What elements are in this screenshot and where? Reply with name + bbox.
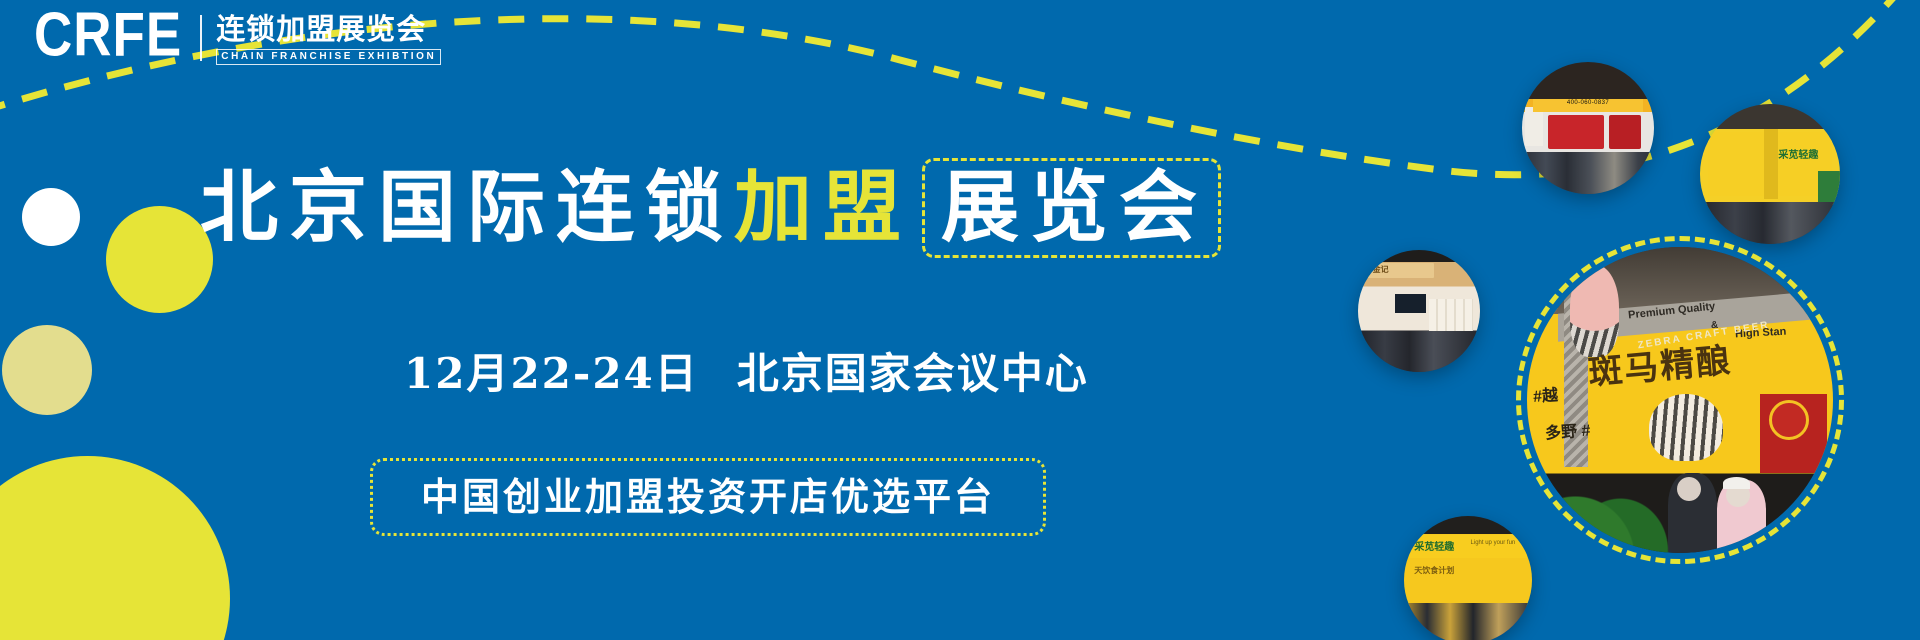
photo-wood-booth: 金记 [1358,250,1480,372]
logo-name-en: CHAIN FRANCHISE EXHIBTION [216,49,441,65]
photo-yellow-booth-top: 采苋轻趣 [1700,104,1840,244]
booth-brand-name: 采苋轻趣 [1414,538,1454,553]
photo-yellow-booth-bottom-image: 采苋轻趣 Light up your fun 天饮食计划 [1404,516,1532,640]
tagline-text: 中国创业加盟投资开店优选平台 [421,476,995,518]
booth-brand-name: 金记 [1373,264,1389,275]
booth-brand-tagline-en: Light up your fun [1471,540,1516,546]
booth-brand-name: 采苋轻趣 [1778,146,1818,161]
booth-red-poster-secondary [1609,115,1641,149]
booth-left-panel [1525,107,1543,147]
title-segment-white: 北京国际连锁 [200,167,734,249]
title-segment-boxed: 展览会 [922,158,1221,258]
decor-large-yellow-circle [0,456,230,640]
logo-divider [200,15,202,61]
event-date-venue: 12月22-24日北京国家会议中心 [404,350,1089,398]
photo-wood-booth-image: 金记 [1358,250,1480,372]
decor-pale-yellow-circle [2,325,92,415]
logo-wordmark: CRFE [34,6,182,65]
photo-zebra-craft-beer-image: Premium Quality & High Stan 斑马精酿 ZEBRA C… [1527,247,1833,553]
page-title: 北京国际连锁 加盟 展览会 [200,158,1221,258]
decor-yellow-circle [106,206,213,313]
promo-banner: CRFE 连锁加盟展览会 CHAIN FRANCHISE EXHIBTION 北… [0,0,1920,640]
crfe-logo: CRFE 连锁加盟展览会 CHAIN FRANCHISE EXHIBTION [34,14,441,65]
title-segment-yellow: 加盟 [734,167,912,249]
photo-chicken-booth: 400-060-0837 [1522,62,1654,194]
logo-text-block: 连锁加盟展览会 CHAIN FRANCHISE EXHIBTION [216,14,441,65]
photo-zebra-craft-beer: Premium Quality & High Stan 斑马精酿 ZEBRA C… [1516,236,1844,564]
booth-visitors [1522,152,1654,194]
booth-visitors [1700,202,1840,244]
booth-visitors [1358,331,1480,372]
booth-hotline-number: 400-060-0837 [1540,100,1635,107]
tagline-box: 中国创业加盟投资开店优选平台 [370,458,1046,536]
visitor-white-cap [1723,477,1751,489]
decor-white-circle [22,188,80,246]
zebra-mascot-lower [1649,394,1722,461]
photo-yellow-booth-bottom: 采苋轻趣 Light up your fun 天饮食计划 [1404,516,1532,640]
booth-display-screen [1395,294,1427,314]
photo-chicken-booth-image: 400-060-0837 [1522,62,1654,194]
booth-slogan: 天饮食计划 [1414,565,1454,576]
booth-green-panel [1818,171,1840,202]
booth-visitors [1404,603,1532,640]
neighbor-red-booth-logo [1769,400,1809,440]
event-venue: 北京国家会议中心 [737,349,1089,398]
booth-corner [1764,129,1778,199]
decor-palm-plant [1533,455,1674,553]
booth-hashtag-2: 多野 # [1545,417,1592,444]
booth-hashtag-1: #越 [1532,381,1559,407]
booth-red-poster [1548,115,1603,149]
logo-name-cn: 连锁加盟展览会 [216,14,441,45]
event-date: 12月22-24日 [404,349,699,398]
photo-yellow-booth-top-image: 采苋轻趣 [1700,104,1840,244]
booth-menu-panels [1429,299,1473,331]
